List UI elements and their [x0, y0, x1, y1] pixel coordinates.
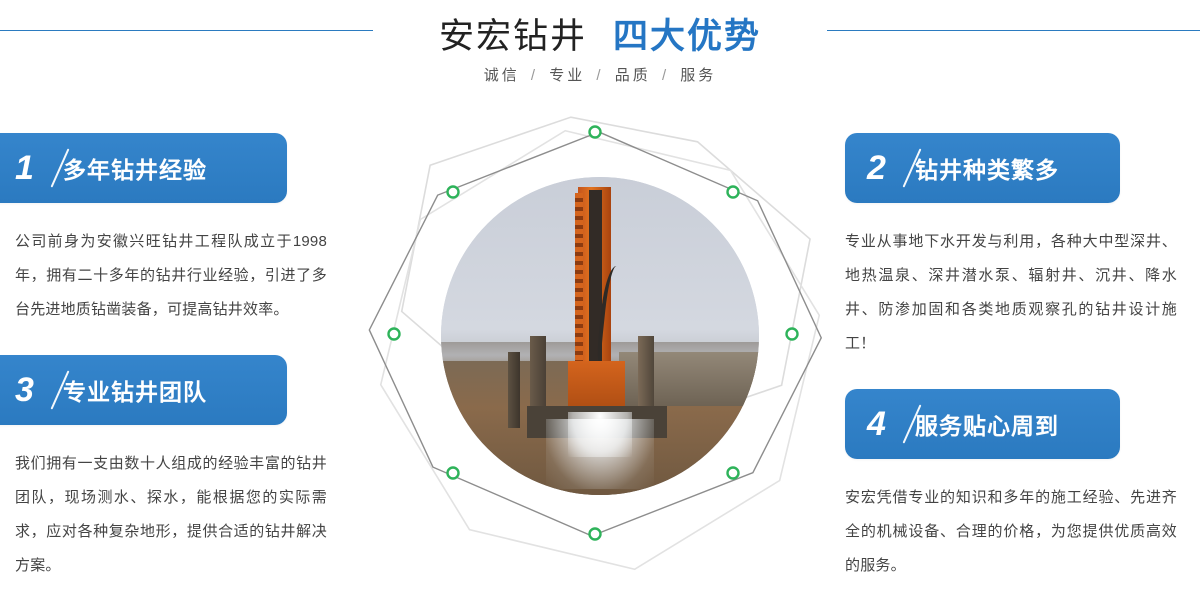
feature-card-2[interactable]: 2 钻井种类繁多 专业从事地下水开发与利用，各种大中型深井、地热温泉、深井潜水泵… [845, 133, 1185, 361]
feature-title-3: 专业钻井团队 [63, 373, 207, 407]
polygon-node-bottom [590, 529, 601, 540]
photo-jack-left-outer [508, 352, 521, 428]
feature-column-left: 1 多年钻井经验 公司前身为安徽兴旺钻井工程队成立于1998年，拥有二十多年的钻… [0, 133, 315, 598]
feature-number-4-value: 4 [867, 405, 886, 443]
feature-title-2: 钻井种类繁多 [915, 151, 1059, 185]
promo-page: 安宏钻井 四大优势 诚信 / 专业 / 品质 / 服务 1 多年钻井经验 公司前… [0, 0, 1200, 600]
drilling-rig-photo [441, 177, 759, 495]
feature-number-3-value: 3 [15, 371, 34, 409]
feature-title-4: 服务贴心周到 [915, 407, 1059, 441]
feature-title-1: 多年钻井经验 [63, 151, 207, 185]
feature-card-1[interactable]: 1 多年钻井经验 公司前身为安徽兴旺钻井工程队成立于1998年，拥有二十多年的钻… [0, 133, 315, 327]
feature-body-4: 安宏凭借专业的知识和多年的施工经验、先进齐全的机械设备、合理的价格，为您提供优质… [845, 481, 1177, 583]
polygon-node-right [787, 329, 798, 340]
page-header: 安宏钻井 四大优势 诚信 / 专业 / 品质 / 服务 [0, 0, 1200, 110]
title-accent: 四大优势 [613, 8, 761, 59]
feature-number-1: 1 [15, 145, 59, 191]
title-main: 安宏钻井 [439, 8, 587, 59]
feature-badge-1[interactable]: 1 多年钻井经验 [0, 133, 287, 203]
center-graphic [360, 110, 840, 590]
photo-water-core [568, 412, 632, 457]
feature-badge-4[interactable]: 4 服务贴心周到 [845, 389, 1120, 459]
feature-card-4[interactable]: 4 服务贴心周到 安宏凭借专业的知识和多年的施工经验、先进齐全的机械设备、合理的… [845, 389, 1185, 583]
feature-column-right: 2 钻井种类繁多 专业从事地下水开发与利用，各种大中型深井、地热温泉、深井潜水泵… [845, 133, 1185, 598]
subtitle-item-1: 专业 [549, 67, 585, 84]
subtitle-item-0: 诚信 [484, 67, 520, 84]
feature-body-2: 专业从事地下水开发与利用，各种大中型深井、地热温泉、深井潜水泵、辐射井、沉井、降… [845, 225, 1177, 361]
feature-body-3: 我们拥有一支由数十人组成的经验丰富的钻井团队，现场测水、探水，能根据您的实际需求… [0, 447, 327, 583]
feature-number-2-value: 2 [867, 149, 886, 187]
subtitle-separator-1: / [596, 67, 603, 84]
subtitle-item-3: 服务 [680, 67, 716, 84]
subtitle-item-2: 品质 [615, 67, 651, 84]
feature-badge-3[interactable]: 3 专业钻井团队 [0, 355, 287, 425]
photo-rig-ladder [575, 193, 583, 384]
feature-number-3: 3 [15, 367, 59, 413]
feature-body-1: 公司前身为安徽兴旺钻井工程队成立于1998年，拥有二十多年的钻井行业经验，引进了… [0, 225, 327, 327]
feature-number-1-value: 1 [15, 149, 34, 187]
polygon-node-left [389, 329, 400, 340]
feature-card-3[interactable]: 3 专业钻井团队 我们拥有一支由数十人组成的经验丰富的钻井团队，现场测水、探水，… [0, 355, 315, 583]
feature-number-2: 2 [867, 145, 911, 191]
polygon-node-top [590, 127, 601, 138]
subtitle-separator-0: / [531, 67, 538, 84]
page-subtitle: 诚信 / 专业 / 品质 / 服务 [0, 64, 1200, 85]
feature-badge-2[interactable]: 2 钻井种类繁多 [845, 133, 1120, 203]
subtitle-separator-2: / [662, 67, 669, 84]
feature-number-4: 4 [867, 401, 911, 447]
page-title: 安宏钻井 四大优势 [0, 8, 1200, 59]
